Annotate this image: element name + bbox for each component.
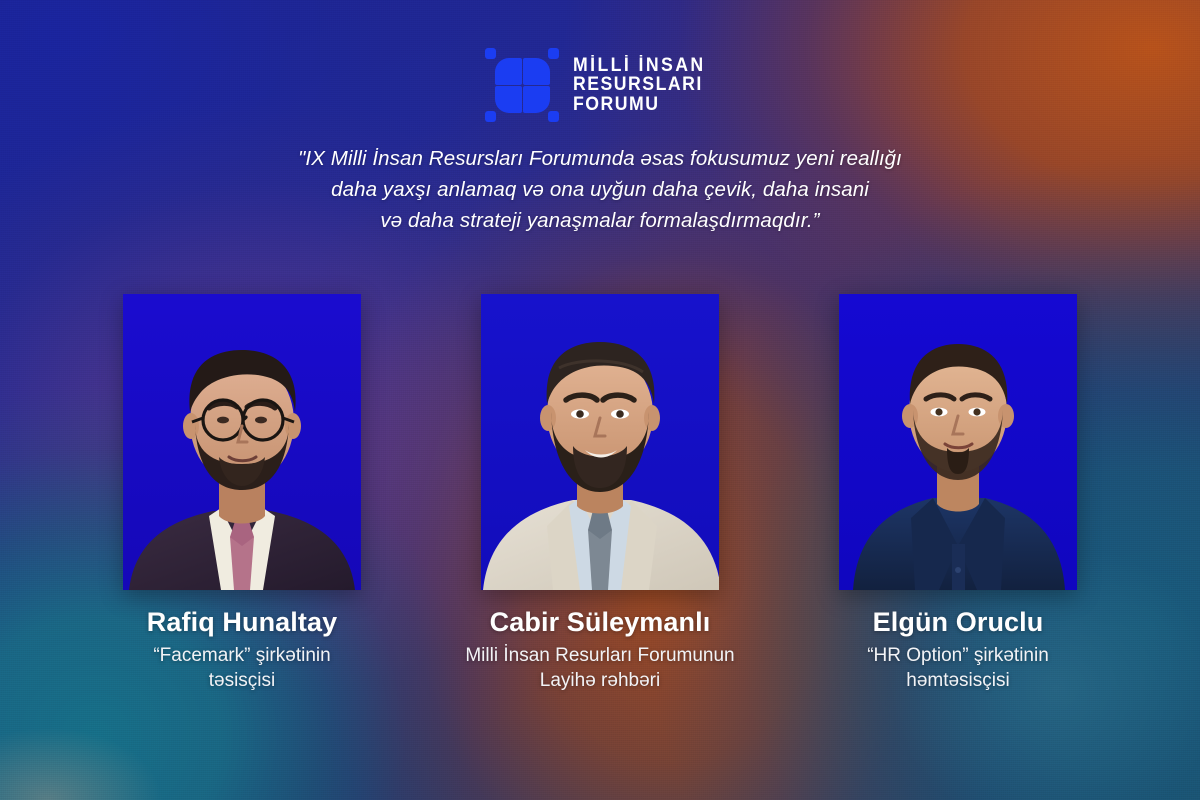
logo-wordmark: MİLLİ İNSAN RESURSLARI FORUMU xyxy=(573,56,716,115)
portrait-bearded-man-beige-suit-grey-tie xyxy=(481,294,719,590)
poster-canvas: MİLLİ İNSAN RESURSLARI FORUMU "IX Milli … xyxy=(0,0,1200,800)
portrait-bearded-man-with-glasses-dark-suit xyxy=(123,294,361,590)
speaker-photo xyxy=(123,294,361,590)
quote-line-3: və daha strateji yanaşmalar formalaşdırm… xyxy=(200,205,1000,236)
logo-line-3: FORUMU xyxy=(573,95,706,115)
speaker-name: Cabir Süleymanlı xyxy=(490,607,711,638)
logo-petal-top-left xyxy=(495,58,522,85)
speaker-role-line-2: Layihə rəhbəri xyxy=(450,668,750,693)
speaker-role-line-1: Milli İnsan Resurları Forumunun xyxy=(450,643,750,668)
logo-dot-top-left xyxy=(485,48,496,59)
speaker-role: “Facemark” şirkətinin təsisçisi xyxy=(92,643,392,694)
clover-four-petal-icon xyxy=(485,48,559,122)
logo-dot-bottom-right xyxy=(548,111,559,122)
quote-line-2: daha yaxşı anlamaq və ona uyğun daha çev… xyxy=(200,174,1000,205)
logo-dot-top-right xyxy=(548,48,559,59)
speaker-name: Elgün Oruclu xyxy=(873,607,1044,638)
logo-line-2: RESURSLARI xyxy=(573,75,706,95)
speaker-card: Rafiq Hunaltay “Facemark” şirkətinin təs… xyxy=(122,294,362,694)
quote-text: "IX Milli İnsan Resursları Forumunda əsa… xyxy=(200,143,1000,236)
speaker-role-line-2: həmtəsisçisi xyxy=(808,668,1108,693)
speaker-name: Rafiq Hunaltay xyxy=(147,607,337,638)
speaker-list: Rafiq Hunaltay “Facemark” şirkətinin təs… xyxy=(0,294,1200,694)
speaker-photo xyxy=(839,294,1077,590)
logo-petal-top-right xyxy=(523,58,550,85)
speaker-role: “HR Option” şirkətinin həmtəsisçisi xyxy=(808,643,1108,694)
logo-petal-bottom-left xyxy=(495,86,522,113)
speaker-card: Cabir Süleymanlı Milli İnsan Resurları F… xyxy=(480,294,720,694)
forum-logo: MİLLİ İNSAN RESURSLARI FORUMU xyxy=(0,48,1200,122)
portrait-young-man-navy-shirt xyxy=(839,294,1077,590)
speaker-role-line-2: təsisçisi xyxy=(92,668,392,693)
speaker-role: Milli İnsan Resurları Forumunun Layihə r… xyxy=(450,643,750,694)
logo-dot-bottom-left xyxy=(485,111,496,122)
speaker-photo xyxy=(481,294,719,590)
logo-line-1: MİLLİ İNSAN xyxy=(573,56,706,76)
speaker-card: Elgün Oruclu “HR Option” şirkətinin həmt… xyxy=(838,294,1078,694)
speaker-role-line-1: “Facemark” şirkətinin xyxy=(92,643,392,668)
logo-petal-bottom-right xyxy=(523,86,550,113)
quote-line-1: "IX Milli İnsan Resursları Forumunda əsa… xyxy=(200,143,1000,174)
speaker-role-line-1: “HR Option” şirkətinin xyxy=(808,643,1108,668)
